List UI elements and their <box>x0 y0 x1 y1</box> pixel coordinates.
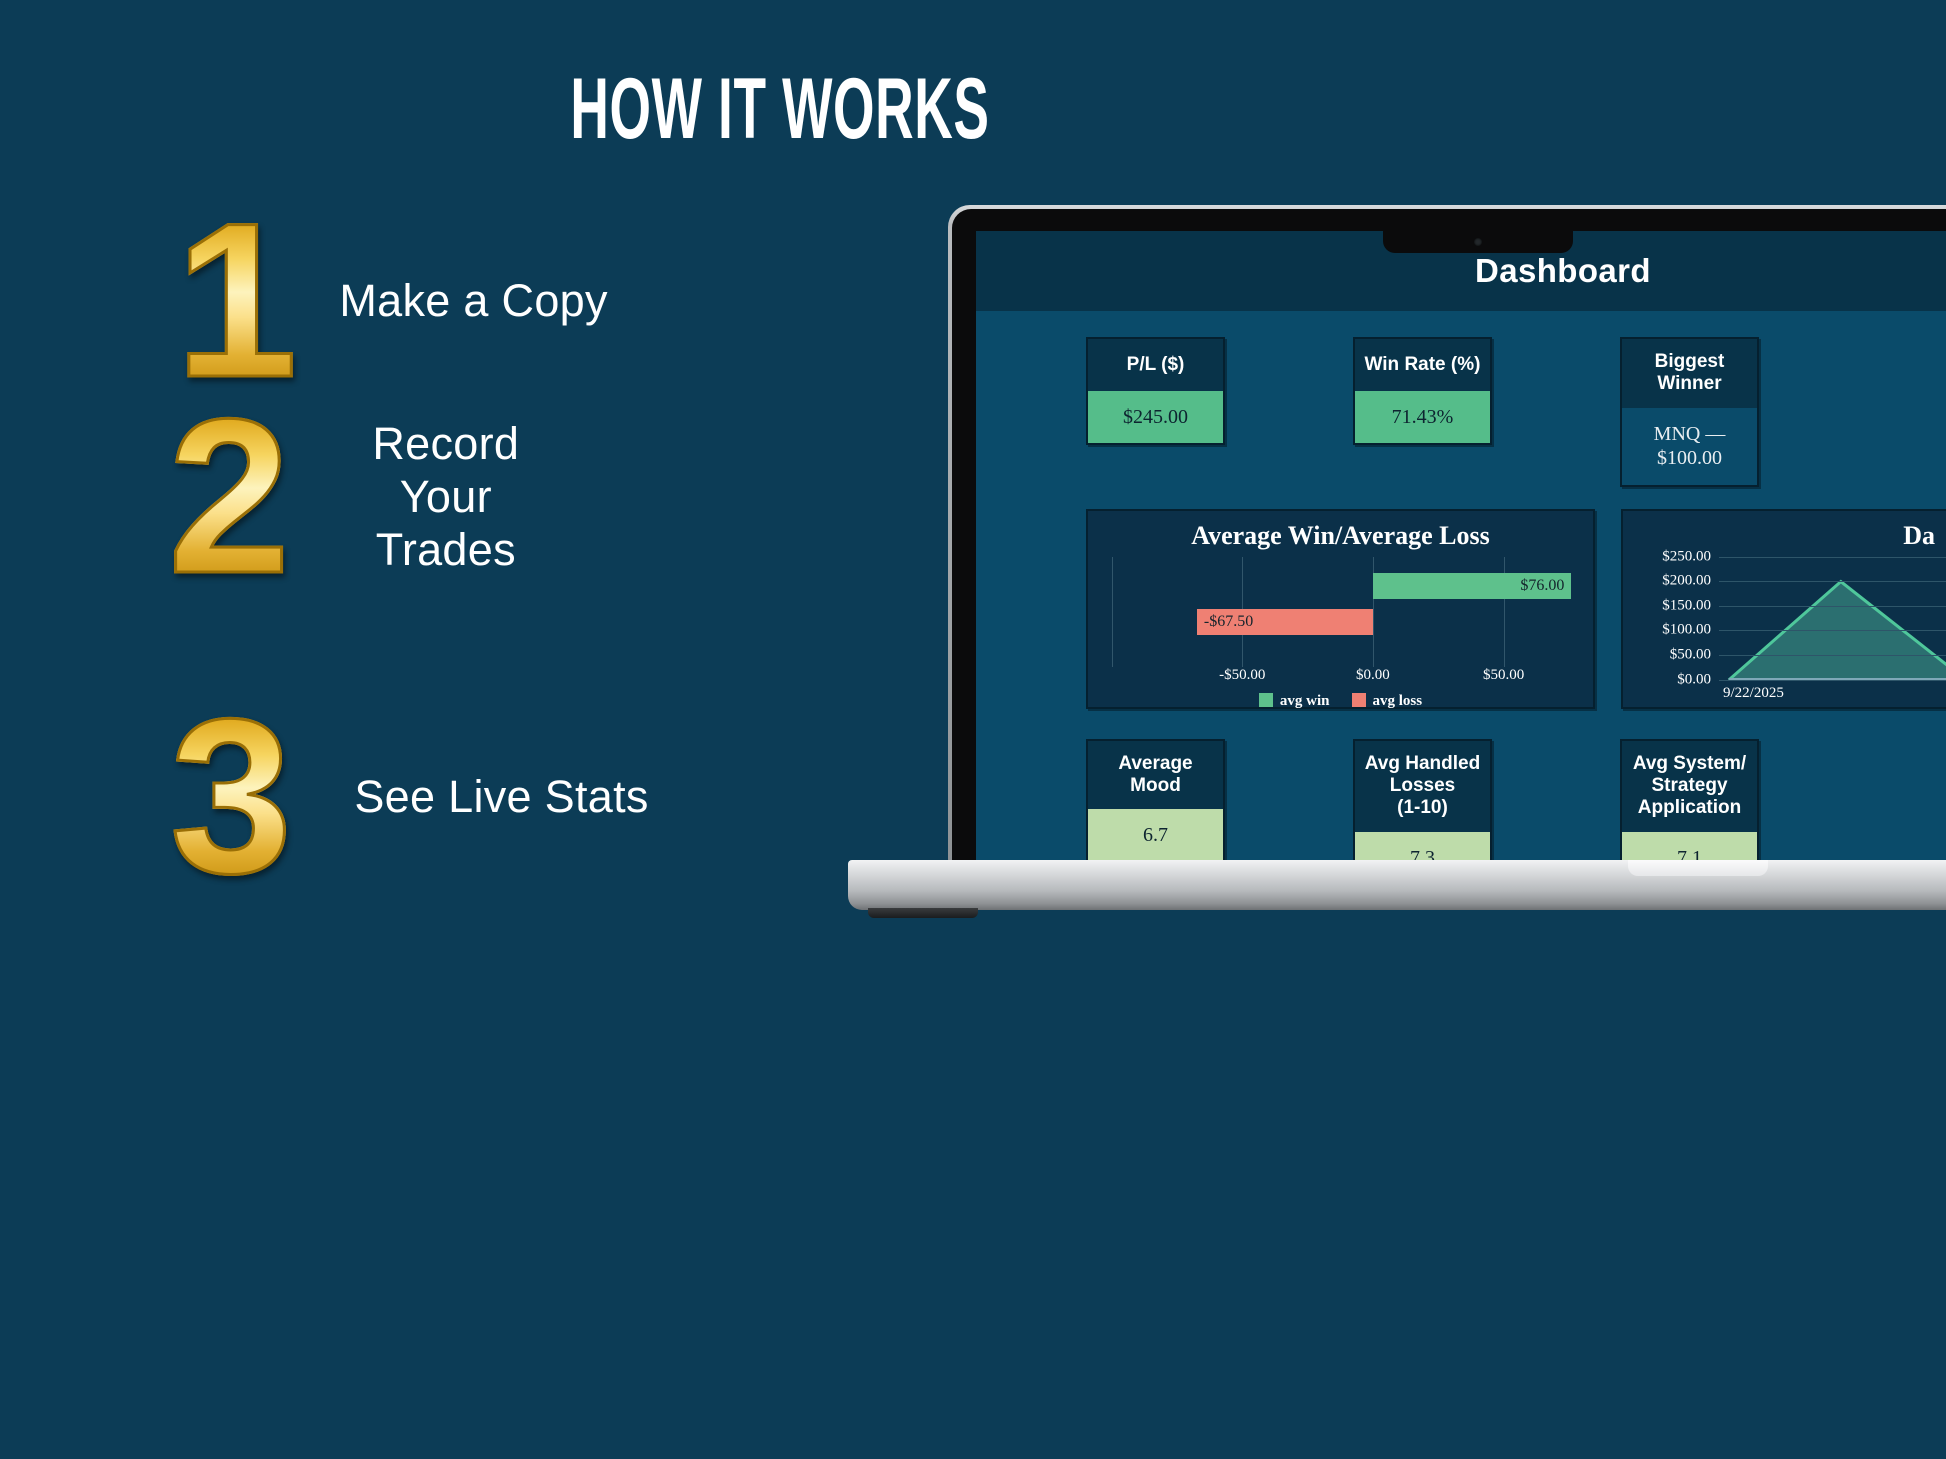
gridline <box>1719 655 1946 656</box>
chart-plot-area: $0.00 $50.00 $100.00 $150.00 $200.00 $25… <box>1631 557 1946 702</box>
step-label-2: RecordYourTrades <box>372 417 519 576</box>
kpi-value: 6.7 <box>1088 809 1223 861</box>
chart-average-win-loss[interactable]: Average Win/Average Loss $76.00 <box>1086 509 1595 709</box>
y-tick-label: $0.00 <box>1677 671 1711 688</box>
step-2: 2 RecordYourTrades <box>168 392 519 601</box>
legend-label: avg win <box>1280 693 1330 709</box>
kpi-card-avg-system-strategy[interactable]: Avg System/StrategyApplication 7.1 <box>1620 739 1759 865</box>
chart-title: Average Win/Average Loss <box>1088 511 1593 557</box>
kpi-card-avg-handled-losses[interactable]: Avg HandledLosses(1-10) 7.3 <box>1353 739 1492 865</box>
laptop-base-notch <box>1628 860 1768 876</box>
y-tick-label: $200.00 <box>1662 573 1711 590</box>
slide-canvas: HOW IT WORKS 1 Make a Copy 2 RecordYourT… <box>0 0 1946 1459</box>
screen-notch <box>1383 231 1573 253</box>
gridline <box>1719 557 1946 558</box>
legend-item-avg-loss: avg loss <box>1352 693 1423 710</box>
chart-row: Average Win/Average Loss $76.00 <box>976 487 1946 709</box>
bar-label: -$67.50 <box>1197 613 1253 631</box>
chart-legend: avg win avg loss <box>1088 689 1593 710</box>
laptop-screen: Dashboard P/L ($) $245.00 Win Rate (%) 7… <box>976 231 1946 865</box>
gridline <box>1719 630 1946 631</box>
kpi-row-top: P/L ($) $245.00 Win Rate (%) 71.43% Bigg… <box>976 311 1946 487</box>
gridline <box>1719 680 1946 681</box>
bar-avg-loss: -$67.50 <box>1197 609 1373 635</box>
x-tick-label: -$50.00 <box>1219 667 1265 684</box>
laptop-mockup: Dashboard P/L ($) $245.00 Win Rate (%) 7… <box>948 205 1946 925</box>
kpi-card-biggest-winner[interactable]: Biggest Winner MNQ —$100.00 <box>1620 337 1759 487</box>
x-tick-label: 9/22/2025 <box>1723 685 1784 702</box>
x-tick-label: $0.00 <box>1356 667 1390 684</box>
step-number-2: 2 <box>168 392 290 601</box>
chart-plot-area: $76.00 -$67.50 <box>1102 557 1579 667</box>
gridline <box>1719 606 1946 607</box>
kpi-label: Avg HandledLosses(1-10) <box>1355 741 1490 832</box>
kpi-label: AverageMood <box>1088 741 1223 810</box>
chart-y-axis: $0.00 $50.00 $100.00 $150.00 $200.00 $25… <box>1631 557 1717 680</box>
gridline <box>1719 581 1946 582</box>
kpi-row-bottom: AverageMood 6.7 Avg HandledLosses(1-10) … <box>976 709 1946 865</box>
legend-label: avg loss <box>1373 693 1423 709</box>
kpi-label: P/L ($) <box>1088 339 1223 391</box>
bar-label: $76.00 <box>1520 577 1571 595</box>
camera-icon <box>1474 238 1482 246</box>
kpi-label: Biggest Winner <box>1622 339 1757 408</box>
kpi-label: Avg System/StrategyApplication <box>1622 741 1757 832</box>
kpi-value: 71.43% <box>1355 391 1490 443</box>
y-tick-label: $50.00 <box>1670 646 1711 663</box>
bar-avg-win: $76.00 <box>1373 573 1571 599</box>
legend-swatch-icon <box>1259 693 1273 707</box>
gridline <box>1112 557 1113 667</box>
area-plot <box>1719 557 1946 680</box>
legend-swatch-icon <box>1352 693 1366 707</box>
step-3: 3 See Live Stats <box>170 692 649 901</box>
y-tick-label: $150.00 <box>1662 597 1711 614</box>
laptop-base <box>848 860 1946 910</box>
step-label-1: Make a Copy <box>339 274 607 327</box>
y-tick-label: $250.00 <box>1662 548 1711 565</box>
legend-item-avg-win: avg win <box>1259 693 1330 710</box>
area-series <box>1719 557 1946 680</box>
dashboard-app: Dashboard P/L ($) $245.00 Win Rate (%) 7… <box>976 231 1946 865</box>
kpi-label: Win Rate (%) <box>1355 339 1490 391</box>
app-title: Dashboard <box>1305 252 1651 290</box>
laptop-foot <box>868 908 978 918</box>
kpi-value: MNQ —$100.00 <box>1622 408 1757 485</box>
chart-x-axis: -$50.00 $0.00 $50.00 <box>1102 667 1579 689</box>
kpi-value: $245.00 <box>1088 391 1223 443</box>
chart-daily-pl[interactable]: Da $0.00 $50.00 $100.00 $150.00 $200.00 … <box>1621 509 1946 709</box>
kpi-card-pl[interactable]: P/L ($) $245.00 <box>1086 337 1225 445</box>
page-title: HOW IT WORKS <box>296 60 1263 159</box>
kpi-card-win-rate[interactable]: Win Rate (%) 71.43% <box>1353 337 1492 445</box>
y-tick-label: $100.00 <box>1662 622 1711 639</box>
step-number-3: 3 <box>170 692 292 901</box>
laptop-lid: Dashboard P/L ($) $245.00 Win Rate (%) 7… <box>948 205 1946 865</box>
step-label-3: See Live Stats <box>354 770 648 823</box>
laptop-bezel: Dashboard P/L ($) $245.00 Win Rate (%) 7… <box>952 209 1946 865</box>
kpi-card-average-mood[interactable]: AverageMood 6.7 <box>1086 739 1225 864</box>
x-tick-label: $50.00 <box>1483 667 1524 684</box>
